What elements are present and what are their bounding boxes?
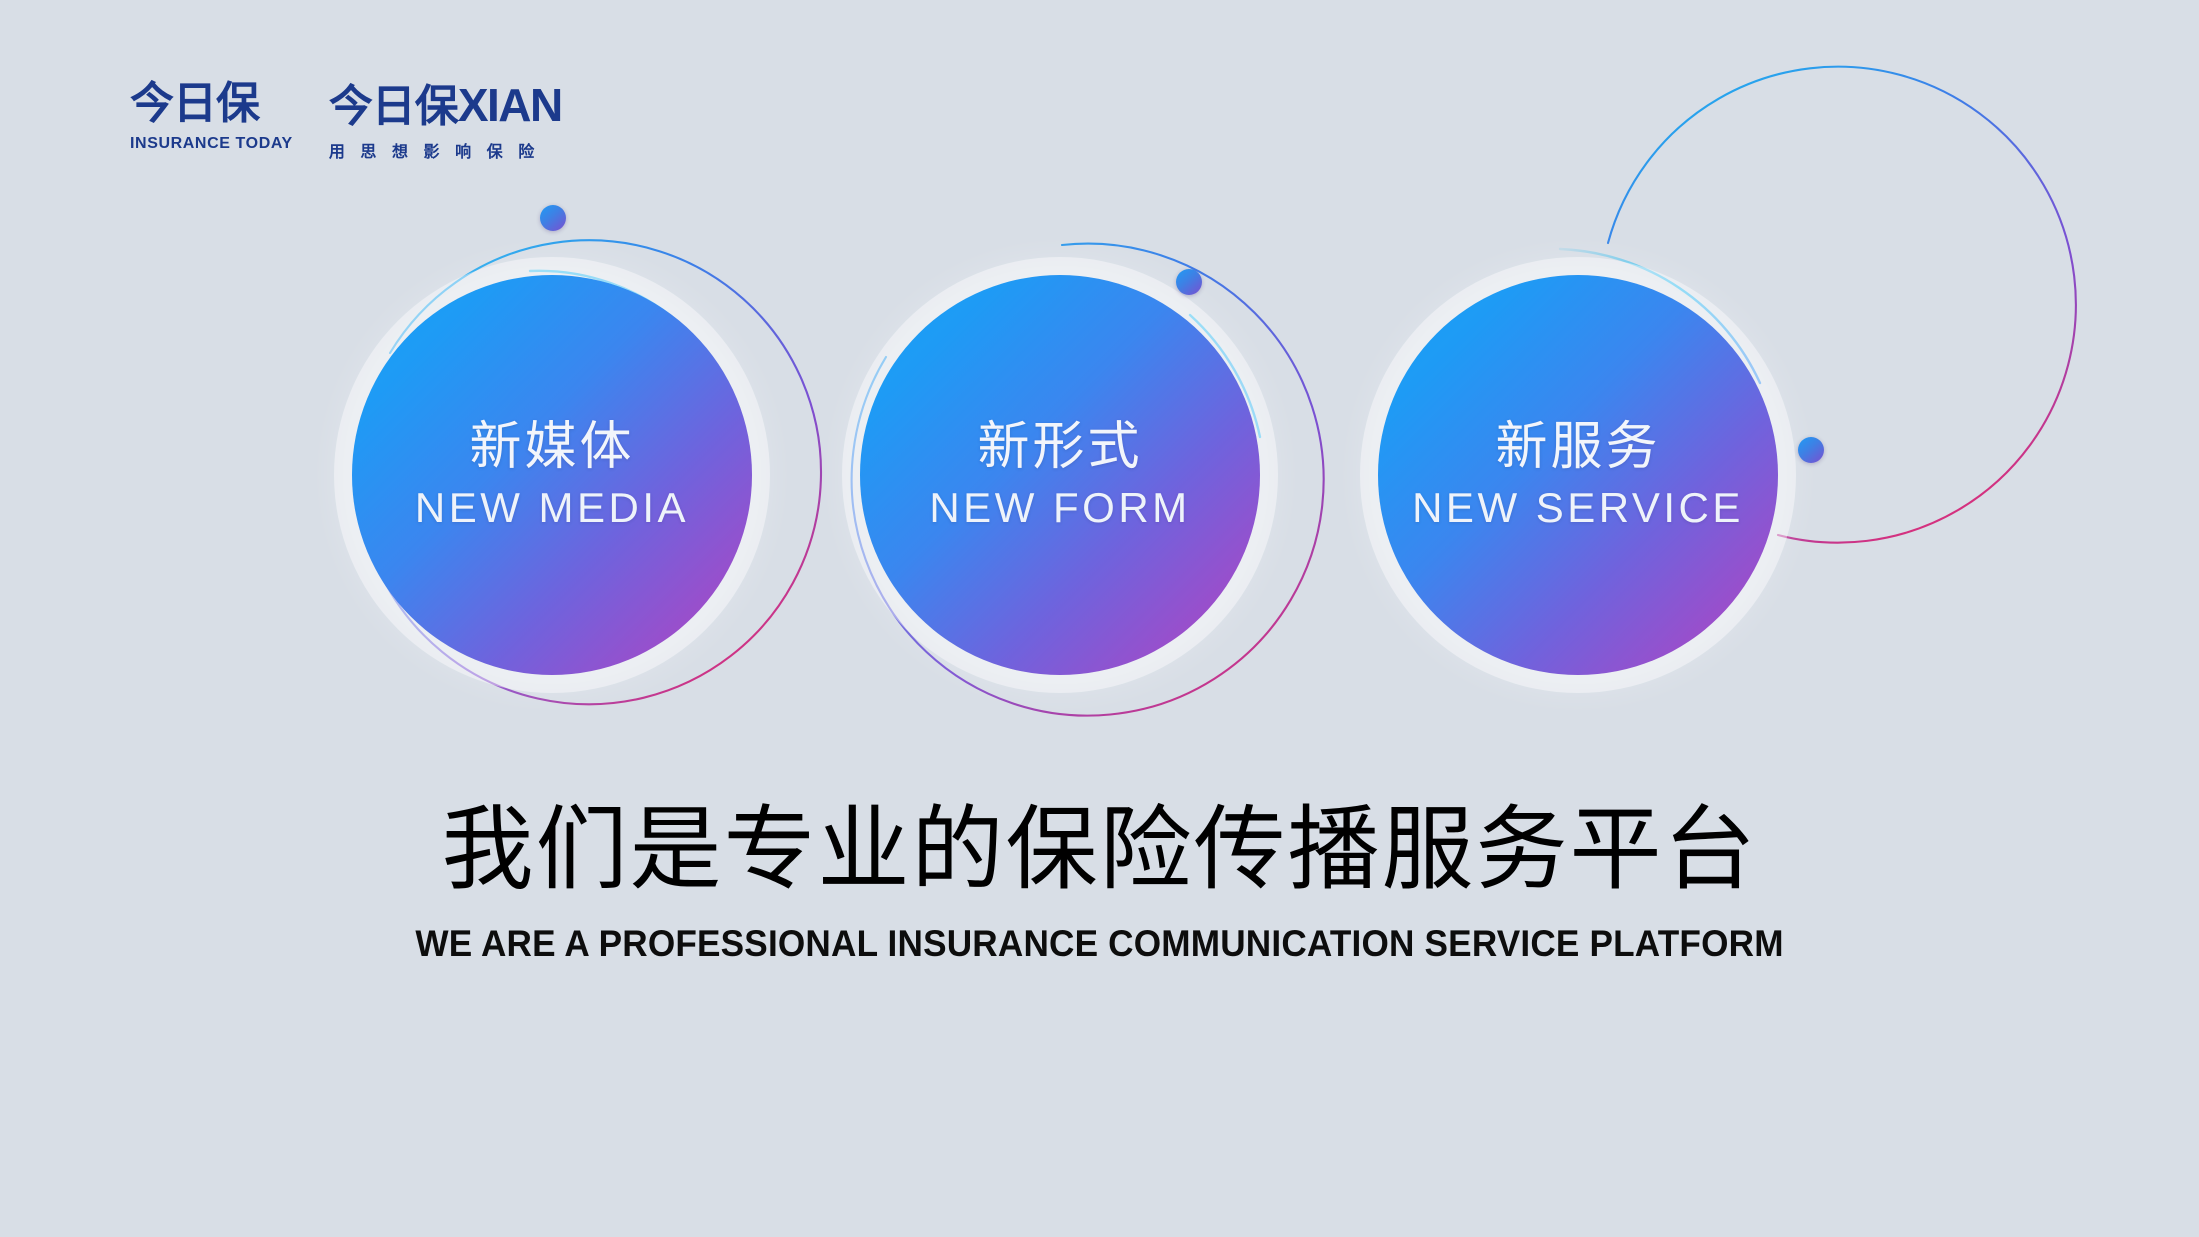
slide-canvas: 今日保 INSURANCE TODAY 今日保XIAN 用 思 想 影 响 保 … [0, 0, 2199, 1237]
feature-orb-new-form[interactable]: 新形式 NEW FORM [830, 245, 1290, 705]
orb-sphere: 新服务 NEW SERVICE [1378, 275, 1778, 675]
orb-title-en: NEW MEDIA [415, 487, 689, 529]
orbit-dot-icon [1798, 437, 1824, 463]
orb-title-cn: 新媒体 [469, 421, 634, 473]
orb-title-en: NEW SERVICE [1412, 487, 1744, 529]
feature-orbs: 新媒体 NEW MEDIA [0, 0, 2199, 760]
orb-title-cn: 新服务 [1495, 421, 1660, 473]
page-subtitle: WE ARE A PROFESSIONAL INSURANCE COMMUNIC… [55, 925, 2144, 962]
orbit-dot-icon [1176, 269, 1202, 295]
orbit-dot-icon [540, 205, 566, 231]
orb-title-en: NEW FORM [929, 487, 1190, 529]
orb-sphere: 新形式 NEW FORM [860, 275, 1260, 675]
page-title: 我们是专业的保险传播服务平台 [0, 800, 2199, 899]
orb-sphere: 新媒体 NEW MEDIA [352, 275, 752, 675]
feature-orb-new-media[interactable]: 新媒体 NEW MEDIA [322, 245, 782, 705]
feature-orb-new-service[interactable]: 新服务 NEW SERVICE [1348, 245, 1808, 705]
orb-title-cn: 新形式 [977, 421, 1142, 473]
headline-block: 我们是专业的保险传播服务平台 WE ARE A PROFESSIONAL INS… [0, 800, 2199, 962]
